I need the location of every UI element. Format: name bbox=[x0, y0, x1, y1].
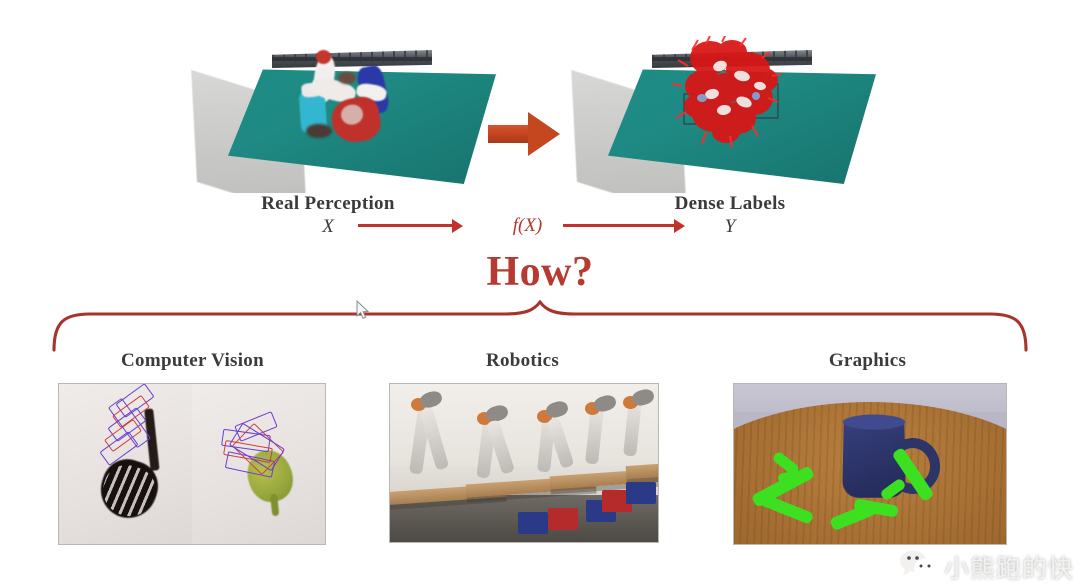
dense-labels-scene bbox=[570, 28, 880, 193]
dense-grasp-annotations bbox=[668, 36, 798, 154]
scene-rack bbox=[272, 46, 432, 68]
real-perception-label: Real Perception bbox=[178, 193, 478, 215]
wechat-icon bbox=[898, 549, 938, 585]
robotics-image bbox=[389, 383, 659, 543]
watermark: 小熊跑的快 bbox=[898, 549, 1074, 585]
how-question-title: How? bbox=[0, 248, 1080, 296]
dense-labels-label: Dense Labels bbox=[580, 193, 880, 215]
mouse-pointer-icon bbox=[356, 300, 370, 320]
graphics-image bbox=[733, 383, 1007, 545]
arrow-x-to-fx-icon bbox=[358, 219, 463, 233]
scene-object-brown-small bbox=[338, 72, 356, 84]
scene-object-dark-small bbox=[306, 124, 332, 138]
category-label-computer-vision: Computer Vision bbox=[60, 350, 325, 372]
computer-vision-image bbox=[58, 383, 326, 545]
category-label-graphics: Graphics bbox=[735, 350, 1000, 372]
robot-lab-scene bbox=[390, 384, 658, 542]
category-label-robotics: Robotics bbox=[390, 350, 655, 372]
cv-subimage-pear bbox=[192, 384, 325, 544]
output-variable-label: Y bbox=[580, 216, 880, 238]
simulation-scene bbox=[734, 384, 1006, 544]
watermark-text: 小熊跑的快 bbox=[944, 549, 1074, 585]
curly-brace-icon bbox=[50, 300, 1030, 352]
real-perception-scene bbox=[190, 28, 500, 193]
slide-canvas: Real Perception X f(X) Dense Labels Y Ho… bbox=[0, 0, 1080, 587]
cv-subimage-spatula bbox=[59, 384, 193, 544]
scene-object-red-cap bbox=[316, 50, 331, 64]
pipeline-big-arrow-icon bbox=[488, 112, 560, 156]
